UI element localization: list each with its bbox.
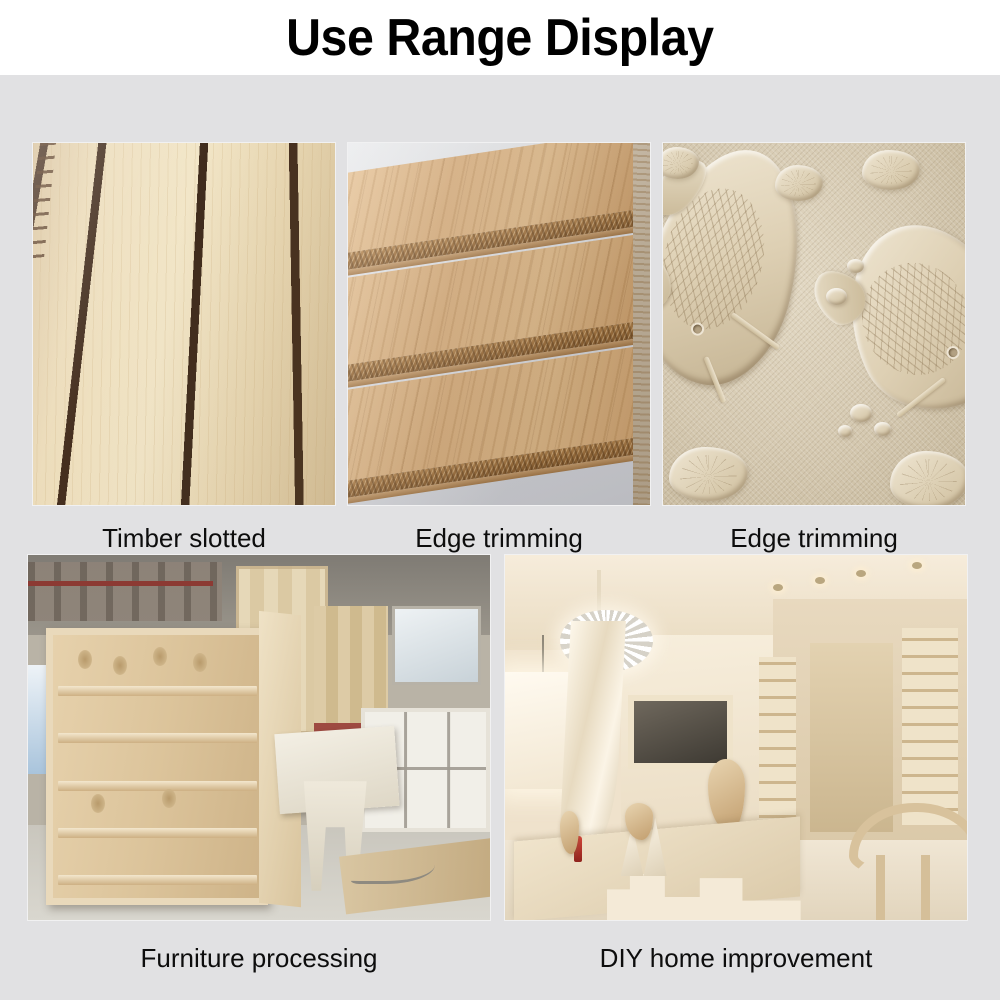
gallery-row-1: Timber slotted	[0, 143, 1000, 575]
carved-bubble	[847, 259, 864, 273]
workshop-rack-beam	[28, 581, 213, 586]
gallery-item-caption: Edge trimming	[663, 525, 965, 551]
wood-knot	[113, 656, 127, 675]
wood-knot	[91, 794, 105, 813]
carved-koi-relief-panel-photo[interactable]	[663, 143, 965, 505]
ceiling-spotlight	[856, 570, 866, 577]
tv-screen-niche	[634, 701, 726, 763]
wood-knot	[193, 653, 207, 672]
workshop-window	[392, 606, 481, 685]
ceiling-spotlight	[815, 577, 825, 584]
carved-bubble	[850, 404, 872, 422]
gallery-item-caption: DIY home improvement	[505, 945, 967, 971]
wood-knot	[153, 647, 167, 666]
gallery-item-caption: Timber slotted	[33, 525, 335, 551]
use-range-display-page: Use Range Display Timber slotted	[0, 0, 1000, 1000]
interior-artwork	[505, 555, 967, 920]
page-header: Use Range Display	[0, 0, 1000, 75]
lattice-shelf-left	[759, 657, 796, 832]
carved-bubble	[874, 422, 891, 436]
wood-knot	[162, 789, 176, 808]
gallery-body: Timber slotted	[0, 75, 1000, 1000]
page-title: Use Range Display	[286, 12, 714, 64]
window-light	[505, 672, 570, 789]
chair-leg	[876, 855, 885, 920]
workshop-artwork	[28, 555, 490, 920]
interior-living-room-photo[interactable]	[505, 555, 967, 920]
chair-leg	[921, 855, 930, 920]
gallery-row-2: Furniture processing	[0, 555, 1000, 975]
gallery-item-caption: Edge trimming	[348, 525, 650, 551]
carved-bubble	[826, 288, 847, 305]
timber-artwork	[33, 143, 335, 505]
gallery-item-caption: Furniture processing	[28, 945, 490, 971]
bookshelf-shelf-board	[58, 733, 258, 743]
timber-sheen-overlay	[33, 143, 335, 505]
carving-artwork	[663, 143, 965, 505]
white-vase	[560, 811, 578, 855]
bookshelf-shelf-board	[58, 875, 258, 885]
carved-lotus-leaf	[890, 451, 966, 505]
wood-knot	[78, 650, 92, 669]
slotted-timber-board-photo[interactable]	[33, 143, 335, 505]
workshop-storage-rack	[28, 562, 222, 620]
boards-artwork	[348, 143, 650, 505]
bookshelf-shelf-board	[58, 828, 258, 838]
ceiling-spotlight	[912, 562, 922, 569]
wishbone-chair	[847, 796, 967, 920]
chandelier-stem	[597, 570, 601, 614]
carved-lotus-leaf	[862, 150, 919, 190]
furniture-workshop-photo[interactable]	[28, 555, 490, 920]
stacked-wood-panels-photo[interactable]	[348, 143, 650, 505]
bookshelf-shelf-board	[58, 686, 258, 696]
boards-shading-overlay	[348, 143, 650, 505]
pine-bookshelf	[46, 628, 268, 905]
bookshelf-shelf-board	[58, 781, 258, 791]
chair-backrest	[849, 803, 967, 878]
